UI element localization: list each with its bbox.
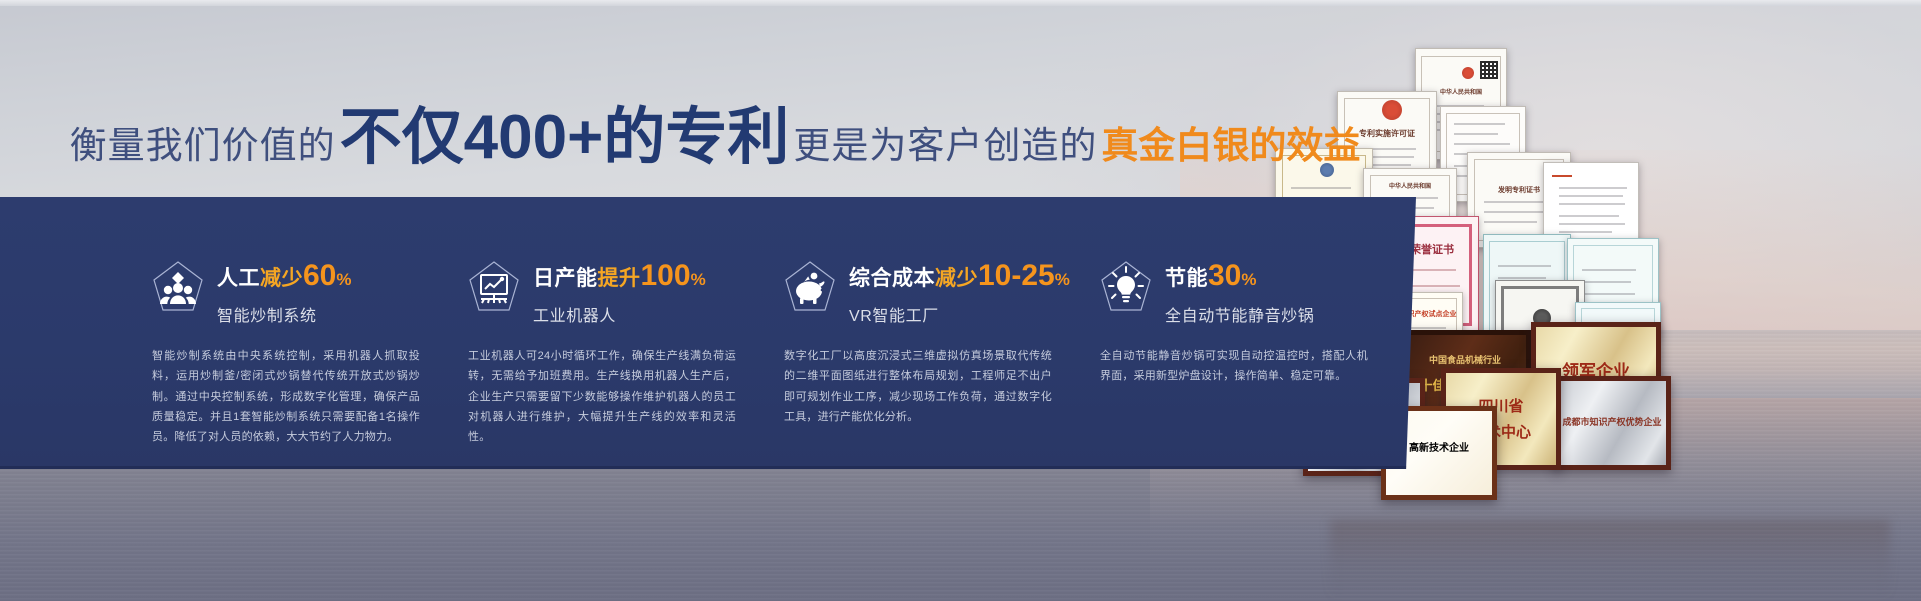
feature-panel: 人工减少60% 智能炒制系统 智能炒制系统由中央系统控制，采用机器人抓取投料，运… [0,197,1416,469]
background-top-edge [0,0,1921,6]
chart-board-icon [468,260,520,316]
stat-label: 日产能 [533,267,598,290]
lightbulb-icon [1100,260,1152,316]
feature-subtitle: VR智能工厂 [849,302,1070,326]
feature-body: 全自动节能静音炒锅可实现自动控温控时，搭配人机界面，采用新型炉盘设计，操作简单、… [1100,346,1368,387]
feature-titles: 人工减少60% 智能炒制系统 [217,259,352,326]
stat-unit: % [1055,270,1070,289]
headline-accent: 真金白银的效益 [1101,115,1360,169]
plaque-text: 中国食品机械行业 [1429,353,1501,366]
headline-emphasis: 不仅400+的专利 [340,86,790,176]
feature-header: 日产能提升100% 工业机器人 [468,259,784,326]
feature-body: 智能炒制系统由中央系统控制，采用机器人抓取投料，运用炒制釜/密闭式炒锅替代传统开… [152,346,420,448]
stat-number: 10-25 [978,259,1055,292]
feature-header: 节能30% 全自动节能静音炒锅 [1100,259,1416,326]
plaque-text: 高新技术企业 [1409,439,1469,454]
feature-stat: 日产能提升100% [533,261,706,291]
feature-stat: 节能30% [1165,261,1314,291]
headline-lead: 衡量我们价值的 [70,115,336,169]
award-plaque: 成都市知识产权优势企业 [1553,376,1671,470]
feature-stat: 人工减少60% [217,261,352,291]
panel-bottom-edge [0,466,1416,469]
certificate-title: 中华人民共和国 [1389,181,1431,190]
stat-unit: % [336,270,351,289]
feature-column: 日产能提升100% 工业机器人 工业机器人可24小时循环工作，确保生产线满负荷运… [468,197,784,469]
feature-body: 数字化工厂以高度沉浸式三维虚拟仿真场景取代传统的二维平面图纸进行整体布局规划，工… [784,346,1052,427]
feature-header: 人工减少60% 智能炒制系统 [152,259,468,326]
feature-subtitle: 智能炒制系统 [217,302,352,326]
feature-header: 综合成本减少10-25% VR智能工厂 [784,259,1100,326]
feature-columns: 人工减少60% 智能炒制系统 智能炒制系统由中央系统控制，采用机器人抓取投料，运… [152,197,1416,469]
stat-verb: 减少 [260,267,303,290]
feature-body: 工业机器人可24小时循环工作，确保生产线满负荷运转，无需给予加班费用。生产线换用… [468,346,736,448]
stat-label: 人工 [217,267,260,290]
feature-titles: 节能30% 全自动节能静音炒锅 [1165,259,1314,326]
feature-subtitle: 工业机器人 [533,302,706,326]
stat-number: 100 [641,259,691,292]
people-group-icon [152,260,204,316]
stat-number: 30 [1208,259,1241,292]
certificate-title: 中华人民共和国 [1440,87,1482,96]
certificate-title: 荣誉证书 [1410,241,1454,257]
feature-column: 综合成本减少10-25% VR智能工厂 数字化工厂以高度沉浸式三维虚拟仿真场景取… [784,197,1100,469]
stat-verb: 减少 [935,267,978,290]
feature-column: 人工减少60% 智能炒制系统 智能炒制系统由中央系统控制，采用机器人抓取投料，运… [152,197,468,469]
feature-column: 节能30% 全自动节能静音炒锅 全自动节能静音炒锅可实现自动控温控时，搭配人机界… [1100,197,1416,469]
stat-unit: % [1241,270,1256,289]
stat-number: 60 [303,259,336,292]
feature-subtitle: 全自动节能静音炒锅 [1165,302,1314,326]
page-headline: 衡量我们价值的 不仅400+的专利 更是为客户创造的 真金白银的效益 [0,86,1430,158]
piggy-bank-icon [784,260,836,316]
feature-titles: 日产能提升100% 工业机器人 [533,259,706,326]
headline-middle: 更是为客户创造的 [793,115,1097,169]
plaque-text: 成都市知识产权优势企业 [1562,415,1661,428]
feature-titles: 综合成本减少10-25% VR智能工厂 [849,259,1070,326]
stat-verb: 提升 [598,267,641,290]
feature-stat: 综合成本减少10-25% [849,261,1070,291]
certificate-title: 发明专利证书 [1498,185,1540,195]
stat-unit: % [691,270,706,289]
stat-label: 节能 [1165,267,1208,290]
stat-label: 综合成本 [849,267,935,290]
